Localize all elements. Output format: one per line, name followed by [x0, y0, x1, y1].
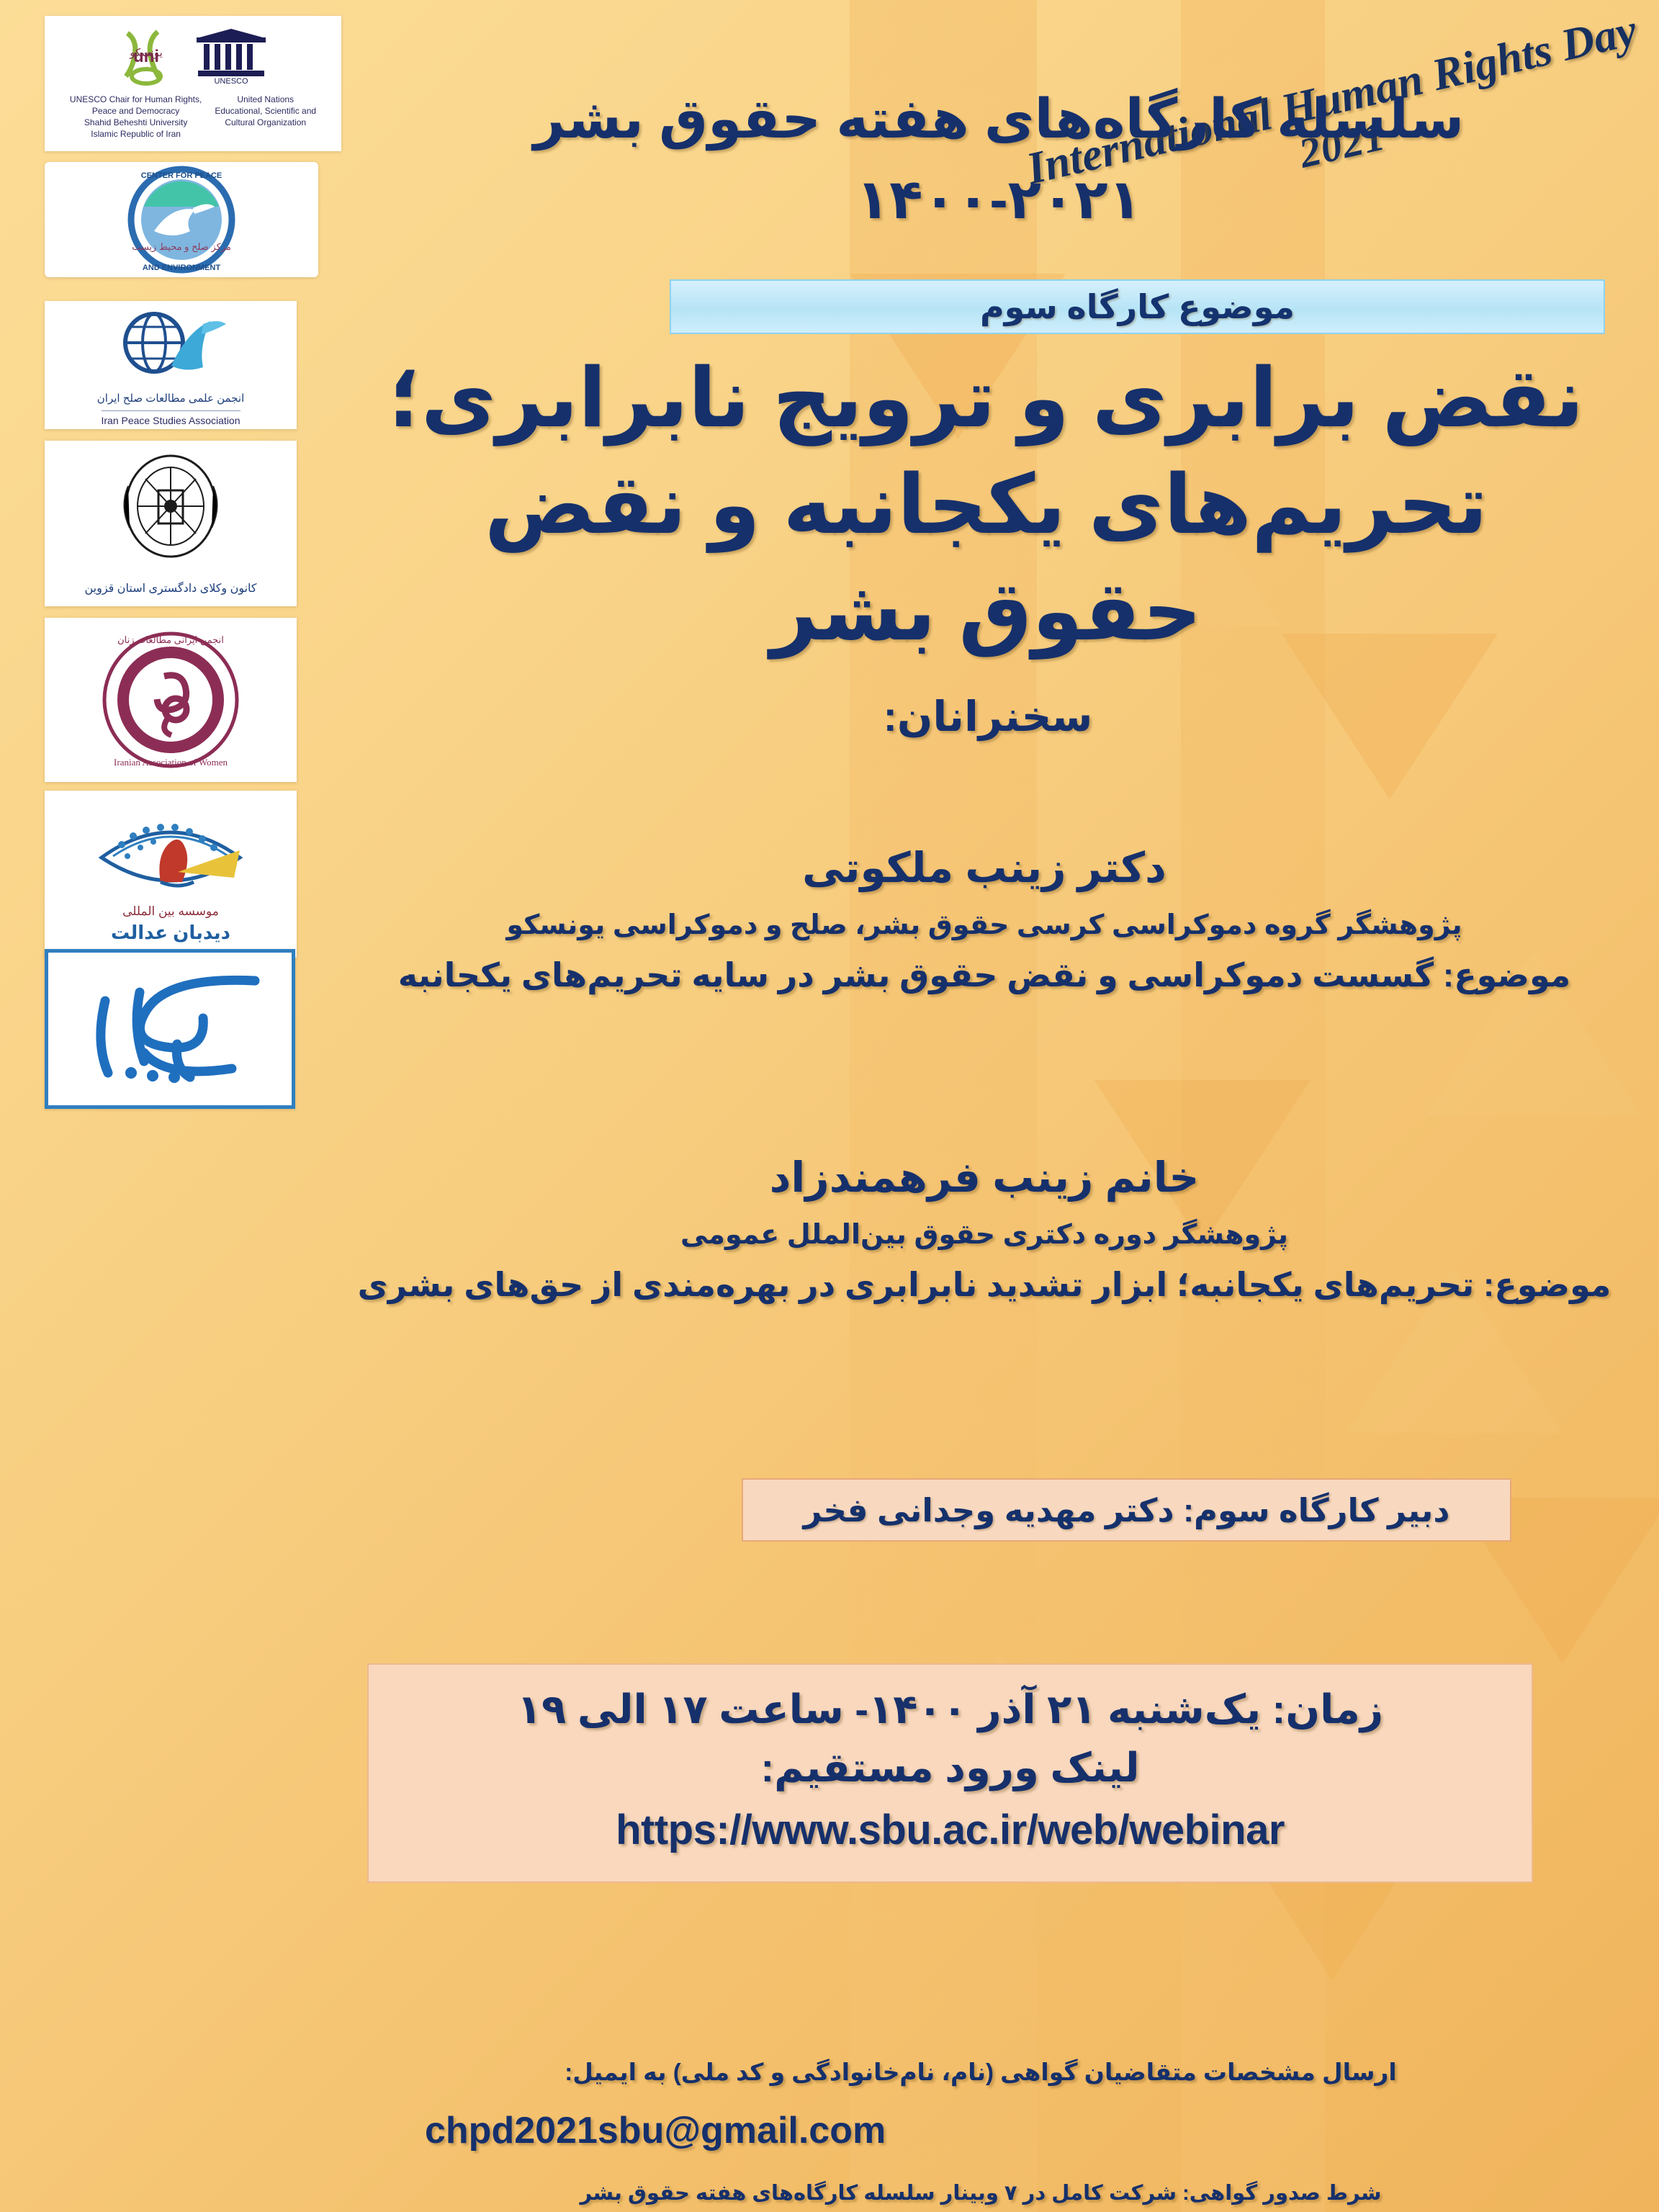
speaker-topic: موضوع: گسست دموکراسی و نقض حقوق بشر در س…	[346, 953, 1623, 998]
event-datetime: زمان: یک‌شنبه ۲۱ آذر ۱۴۰۰- ساعت ۱۷ الی ۱…	[397, 1683, 1503, 1736]
event-details-box: زمان: یک‌شنبه ۲۱ آذر ۱۴۰۰- ساعت ۱۷ الی ۱…	[367, 1663, 1533, 1883]
logo-qazvin-bar-association: کانون وکلای دادگستری استان قزوین	[45, 441, 297, 606]
footer-certificate-instructions: ارسال مشخصات متقاضیان گواهی (نام، نام‌خا…	[338, 2056, 1623, 2089]
logo-iran-peace-studies: انجمن علمی مطالعات صلح ایران Iran Peace …	[45, 301, 297, 429]
speaker-affiliation: پژوهشگر گروه دموکراسی کرسی حقوق بشر، صلح…	[346, 907, 1623, 945]
topic-badge: موضوع کارگاه سوم	[670, 279, 1605, 334]
svg-text:UNESCO: UNESCO	[214, 77, 248, 85]
speaker-name: خانم زینب فرهمندزاد	[346, 1151, 1623, 1205]
logo-shahid-beheshti-university	[45, 949, 295, 1109]
speaker-topic: موضوع: تحریم‌های یکجانبه؛ ابزار تشدید نا…	[346, 1262, 1623, 1308]
bar-association-wreath-icon	[95, 450, 246, 580]
event-link-url[interactable]: https://www.sbu.ac.ir/web/webinar	[397, 1804, 1503, 1857]
secretary-box: دبیر کارگاه سوم: دکتر مهدیه وجدانی فخر	[742, 1478, 1511, 1542]
svg-text:AND ENVIRONMENT: AND ENVIRONMENT	[143, 264, 220, 272]
headline-line-2: تحریم‌های یکجانبه و نقض حقوق بشر	[353, 452, 1619, 665]
peace-dove-circle-icon: CENTER FOR PEACE AND ENVIRONMENT مركز صل…	[109, 165, 253, 274]
svg-text:انجمن ايرانى مطالعات زنان: انجمن ايرانى مطالعات زنان	[117, 634, 224, 646]
footer-email[interactable]: chpd2021sbu@gmail.com	[425, 2108, 1623, 2154]
footer: ارسال مشخصات متقاضیان گواهی (نام، نام‌خا…	[338, 2056, 1623, 2208]
series-title: سلسله کارگاه‌های هفته حقوق بشر	[382, 85, 1616, 153]
logo-iranian-association-of-women: انجمن ايرانى مطالعات زنان Iranian Associ…	[45, 618, 297, 782]
logo-caption-qazvin: کانون وکلای دادگستری استان قزوین	[84, 581, 256, 597]
logo-unesco-chair: UNESCO uni يونسكو United Nations Educati…	[45, 16, 341, 151]
svg-text:Iranian Association of Women: Iranian Association of Women	[114, 757, 228, 768]
logo-caption-unesco-chair: UNESCO Chair for Human Rights, Peace and…	[70, 94, 202, 140]
logo-caption-ipsa-fa: انجمن علمی مطالعات صلح ایران	[97, 392, 244, 406]
main-content: سلسله کارگاه‌های هفته حقوق بشر ۱۴۰۰-۲۰۲۱…	[338, 0, 1637, 2212]
logo-rail: UNESCO uni يونسكو United Nations Educati…	[0, 0, 338, 2212]
svg-text:يونسكو: يونسكو	[129, 47, 163, 59]
globe-bird-icon	[102, 302, 239, 389]
logo-didban-edalat: موسسه بین المللی دیدبان عدالت	[45, 791, 297, 958]
svg-text:CENTER FOR PEACE: CENTER FOR PEACE	[141, 171, 222, 180]
speaker-name: دکتر زینب ملکوتی	[346, 841, 1623, 895]
unesco-chair-emblem-icon: uni يونسكو	[113, 27, 179, 89]
logo-center-peace-environment: CENTER FOR PEACE AND ENVIRONMENT مركز صل…	[45, 162, 318, 277]
svg-text:مركز صلح و محيط زيست: مركز صلح و محيط زيست	[132, 241, 231, 253]
series-year: ۱۴۰۰-۲۰۲۱	[382, 166, 1616, 234]
event-link-label: لینک ورود مستقیم:	[397, 1740, 1503, 1795]
speaker-affiliation: پژوهشگر دوره دکتری حقوق بین‌الملل عمومی	[346, 1216, 1623, 1254]
speaker-block: دکتر زینب ملکوتی پژوهشگر گروه دموکراسی ک…	[346, 841, 1623, 998]
logo-caption-didban-1: موسسه بین المللی	[122, 904, 219, 920]
logo-caption-didban-2: دیدبان عدالت	[111, 920, 230, 945]
topic-badge-label: موضوع کارگاه سوم	[980, 287, 1295, 326]
sbu-calligraphy-icon	[62, 961, 278, 1097]
poster-canvas: International Human Rights Day 2021 UNES…	[0, 0, 1659, 2212]
headline-line-1: نقض برابری و ترویج نابرابری؛	[353, 346, 1619, 452]
women-association-ring-icon: انجمن ايرانى مطالعات زنان Iranian Associ…	[95, 624, 246, 775]
headline: نقض برابری و ترویج نابرابری؛ تحریم‌های ی…	[353, 346, 1619, 666]
logo-caption-ipsa-en: Iran Peace Studies Association	[102, 410, 240, 428]
unesco-logo-icon: UNESCO	[189, 27, 273, 85]
speaker-block: خانم زینب فرهمندزاد پژوهشگر دوره دکتری ح…	[346, 1151, 1623, 1308]
speakers-label: سخنرانان:	[338, 691, 1637, 744]
logo-caption-unesco: United Nations Educational, Scientific a…	[215, 94, 316, 140]
eye-hand-icon	[91, 803, 250, 904]
secretary-label: دبیر کارگاه سوم: دکتر مهدیه وجدانی فخر	[804, 1491, 1450, 1529]
footer-certificate-condition: شرط صدور گواهی: شرکت کامل در ۷ وبینار سل…	[338, 2179, 1623, 2208]
